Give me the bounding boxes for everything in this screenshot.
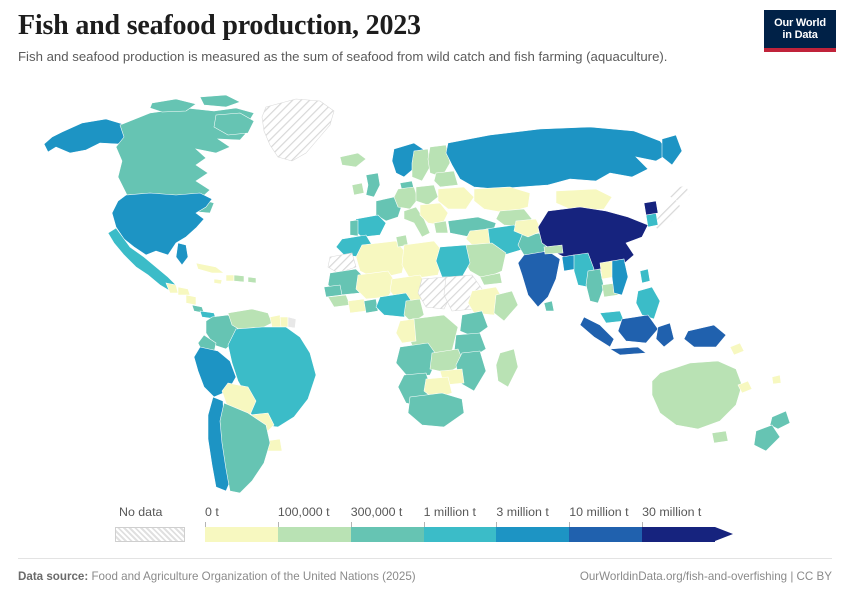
country-french-guiana[interactable] <box>288 317 296 328</box>
country-guinea[interactable] <box>328 295 350 307</box>
country-kenya[interactable] <box>460 311 488 337</box>
country-borneo[interactable] <box>618 315 658 343</box>
country-south-korea[interactable] <box>646 213 658 227</box>
legend-bin-1[interactable] <box>278 527 351 542</box>
logo-line-2: in Data <box>782 29 817 41</box>
country-solomon-islands[interactable] <box>730 343 744 355</box>
country-ivory-coast[interactable] <box>348 299 366 313</box>
legend-tick-1 <box>278 522 279 527</box>
chart-subtitle: Fish and seafood production is measured … <box>18 48 832 65</box>
country-puerto-rico[interactable] <box>248 277 256 283</box>
country-north-korea[interactable] <box>644 201 658 215</box>
legend-tick-0 <box>205 522 206 527</box>
legend-bin-0[interactable] <box>205 527 278 542</box>
country-australia[interactable] <box>652 361 742 429</box>
country-poland[interactable] <box>416 185 438 205</box>
data-source: Data source: Food and Agriculture Organi… <box>18 570 416 583</box>
country-ireland[interactable] <box>352 183 364 195</box>
country-malaysia[interactable] <box>600 311 624 323</box>
country-iceland[interactable] <box>340 153 366 167</box>
legend-tick-label-3: 1 million t <box>424 505 476 519</box>
legend-bar[interactable] <box>115 527 735 542</box>
country-sweden[interactable] <box>412 149 430 181</box>
country-us-florida[interactable] <box>176 243 188 265</box>
legend-tick-label-1: 100,000 t <box>278 505 330 519</box>
country-honduras[interactable] <box>178 287 190 295</box>
country-java[interactable] <box>610 347 646 355</box>
owid-map-chart: Fish and seafood production, 2023 Fish a… <box>0 0 850 600</box>
legend-no-data-swatch[interactable] <box>115 527 185 542</box>
country-taiwan[interactable] <box>640 269 650 283</box>
country-sri-lanka[interactable] <box>544 301 554 311</box>
legend-tick-6 <box>642 522 643 527</box>
country-south-africa[interactable] <box>408 393 464 427</box>
world-map[interactable] <box>0 95 850 495</box>
country-papua-new-guinea[interactable] <box>684 325 726 347</box>
country-sulawesi[interactable] <box>656 323 674 347</box>
country-somalia[interactable] <box>494 291 518 321</box>
country-japan-hokkaido[interactable] <box>670 185 690 201</box>
legend-tick-4 <box>496 522 497 527</box>
legend-tick-label-6: 30 million t <box>642 505 701 519</box>
legend-tick-3 <box>424 522 425 527</box>
country-russia[interactable] <box>446 127 670 189</box>
country-new-zealand-south[interactable] <box>754 425 780 451</box>
chart-footer: Data source: Food and Agriculture Organi… <box>18 558 832 586</box>
legend-tick-label-0: 0 t <box>205 505 219 519</box>
country-senegal[interactable] <box>324 285 342 297</box>
country-haiti[interactable] <box>226 275 234 281</box>
country-egypt[interactable] <box>436 245 470 277</box>
country-canada-arctic-2[interactable] <box>200 95 240 107</box>
country-india[interactable] <box>518 251 560 307</box>
data-source-label: Data source: <box>18 570 88 583</box>
country-greenland[interactable] <box>262 99 334 161</box>
owid-url-license[interactable]: OurWorldinData.org/fish-and-overfishing … <box>580 570 832 583</box>
country-suriname[interactable] <box>280 317 288 327</box>
country-nicaragua[interactable] <box>186 295 196 305</box>
world-map-svg[interactable] <box>0 95 850 495</box>
legend-color-ramp[interactable] <box>205 527 733 542</box>
owid-logo[interactable]: Our World in Data <box>764 10 836 52</box>
legend-tick-label-5: 10 million t <box>569 505 628 519</box>
country-mali[interactable] <box>356 271 396 299</box>
country-ukraine[interactable] <box>438 187 474 209</box>
country-fiji[interactable] <box>772 375 781 384</box>
country-dominican-republic[interactable] <box>234 275 244 282</box>
legend-arrow-icon <box>715 527 733 541</box>
country-madagascar[interactable] <box>496 349 518 387</box>
country-guatemala[interactable] <box>166 283 178 293</box>
country-germany[interactable] <box>394 187 418 209</box>
legend-tick-5 <box>569 522 570 527</box>
legend-bin-4[interactable] <box>496 527 569 542</box>
legend-tick-label-2: 300,000 t <box>351 505 403 519</box>
country-vietnam[interactable] <box>612 259 628 295</box>
country-gabon-congo[interactable] <box>396 319 416 343</box>
map-countries[interactable] <box>44 95 790 493</box>
legend-labels: No data 0 t 100,000 t 300,000 t 1 millio… <box>115 505 735 523</box>
data-source-text: Food and Agriculture Organization of the… <box>91 570 415 583</box>
legend-bin-2[interactable] <box>351 527 424 542</box>
country-jamaica[interactable] <box>214 279 222 284</box>
country-tasmania[interactable] <box>712 431 728 443</box>
country-cuba[interactable] <box>196 263 224 273</box>
legend-bin-6[interactable] <box>642 527 715 542</box>
legend-no-data-label: No data <box>119 505 162 519</box>
chart-header: Fish and seafood production, 2023 Fish a… <box>18 10 832 66</box>
logo-line-1: Our World <box>774 17 826 29</box>
page-title: Fish and seafood production, 2023 <box>18 10 832 41</box>
map-legend[interactable]: No data 0 t 100,000 t 300,000 t 1 millio… <box>0 505 850 555</box>
country-belarus-baltics[interactable] <box>434 171 458 187</box>
country-greece[interactable] <box>434 221 448 233</box>
country-ghana[interactable] <box>364 299 378 313</box>
legend-tick-label-4: 3 million t <box>496 505 548 519</box>
legend-bin-5[interactable] <box>569 527 642 542</box>
country-philippines[interactable] <box>636 287 660 319</box>
country-united-kingdom[interactable] <box>366 173 380 197</box>
legend-tick-2 <box>351 522 352 527</box>
country-portugal[interactable] <box>350 220 358 236</box>
country-kamchatka[interactable] <box>662 135 682 165</box>
legend-bin-3[interactable] <box>424 527 497 542</box>
